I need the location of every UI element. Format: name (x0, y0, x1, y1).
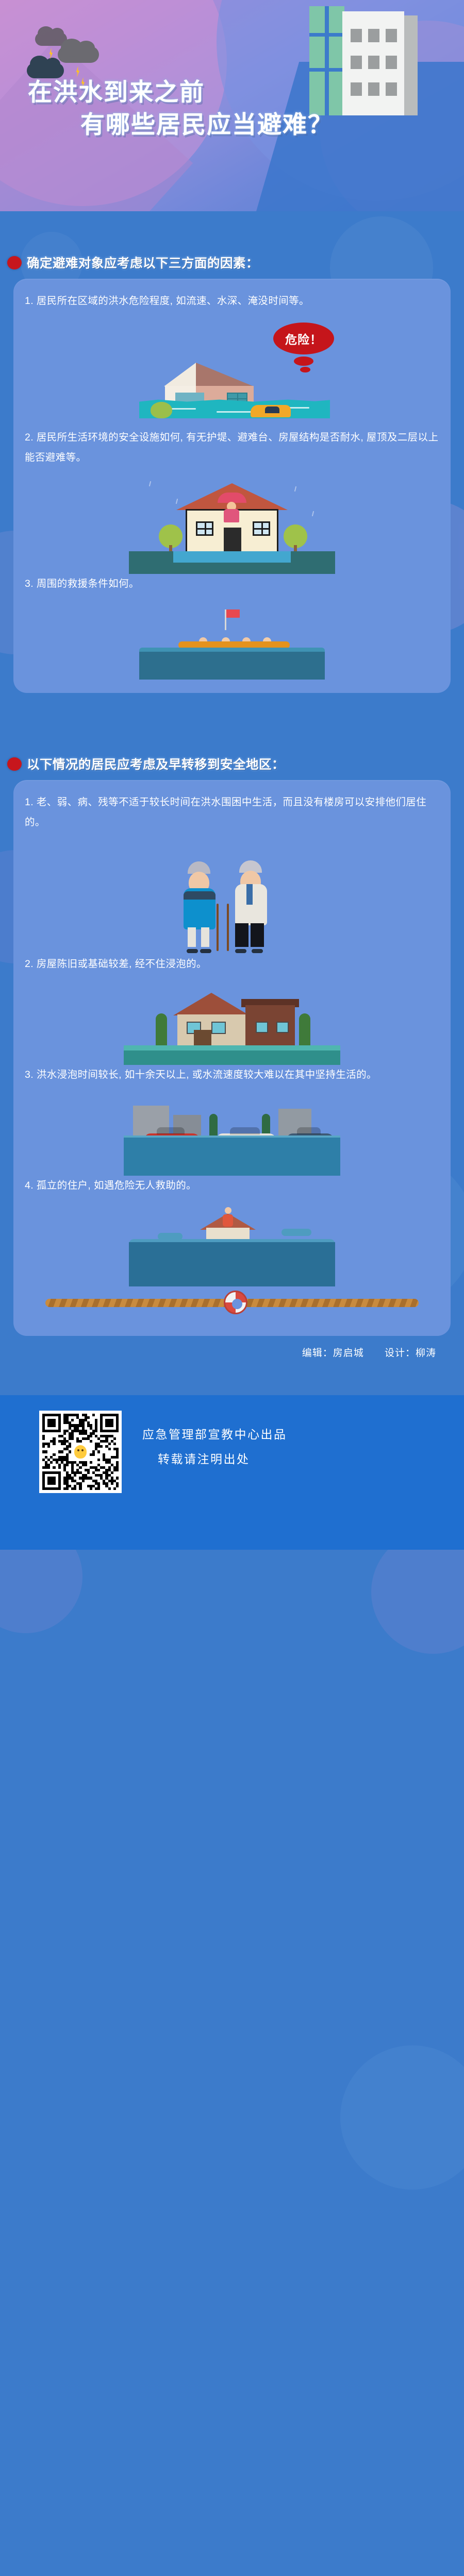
section-1-item-1-text: 1. 居民所在区域的洪水危险程度, 如流速、水深、淹没时间等。 (25, 291, 439, 311)
danger-callout-bubble: 危险！ (273, 323, 334, 354)
section-1-header: 确定避难对象应考虑以下三方面的因素： (0, 253, 464, 272)
danger-callout-text: 危险！ (285, 330, 322, 347)
section-1-title: 确定避难对象应考虑以下三方面的因素： (27, 253, 259, 272)
title-line-2: 有哪些居民应当避难？ (19, 109, 445, 141)
old-house-illustration (124, 977, 340, 1065)
credits: 编辑：房启城 设计：柳涛 (0, 1336, 464, 1359)
footer: 应急管理部宣教中心出品 转载请注明出处 (0, 1395, 464, 1550)
rescue-flag-icon (225, 609, 226, 630)
section-2: 以下情况的居民应考虑及早转移到安全地区： 1. 老、弱、病、残等不适于较长时间在… (0, 693, 464, 1359)
rope-lifebuoy-divider (25, 1286, 439, 1323)
footer-line-1: 应急管理部宣教中心出品 (142, 1422, 287, 1447)
isolated-house-illustration (129, 1199, 335, 1286)
section-1-card: 1. 居民所在区域的洪水危险程度, 如流速、水深、淹没时间等。 危险！ (13, 279, 451, 693)
section-1-item-2-text: 2. 居民所生活环境的安全设施如何, 有无护堤、避难台、房屋结构是否耐水, 屋顶… (25, 428, 439, 468)
house-in-flood-illustration: 危险！ (124, 320, 340, 418)
page-title: 在洪水到来之前 有哪些居民应当避难？ (0, 76, 464, 141)
elderly-couple-illustration (139, 836, 325, 954)
infographic-page: 在洪水到来之前 有哪些居民应当避难？ 确定避难对象应考虑以下三方面的因素： 1.… (0, 0, 464, 2576)
section-2-item-3-text: 3. 洪水浸泡时间较长, 如十余天以上, 或水流速度较大难以在其中坚持生活的。 (25, 1065, 439, 1085)
wechat-qr-code[interactable] (39, 1411, 122, 1493)
footer-line-2: 转载请注明出处 (142, 1447, 287, 1471)
life-buoy-icon (224, 1291, 247, 1314)
section-2-item-4-text: 4. 孤立的住户, 如遇危险无人救助的。 (25, 1176, 439, 1196)
footer-text-block: 应急管理部宣教中心出品 转载请注明出处 (142, 1411, 287, 1472)
credits-editor: 编辑：房启城 (302, 1348, 364, 1359)
section-2-header: 以下情况的居民应考虑及早转移到安全地区： (0, 755, 464, 773)
qr-center-logo (71, 1442, 90, 1462)
umbrella-icon (218, 493, 246, 503)
section-2-card: 1. 老、弱、病、残等不适于较长时间在洪水围困中生活，而且没有楼房可以安排他们居… (13, 780, 451, 1336)
mascot-chick-icon (74, 1445, 87, 1459)
credits-designer: 设计：柳涛 (385, 1348, 436, 1359)
rescue-boat-illustration (139, 597, 325, 680)
red-bullet-icon (7, 757, 22, 771)
house-with-balcony-illustration (129, 471, 335, 574)
storm-cloud-icon (58, 46, 99, 63)
title-line-1: 在洪水到来之前 (19, 76, 445, 109)
section-1: 确定避难对象应考虑以下三方面的因素： 1. 居民所在区域的洪水危险程度, 如流速… (0, 222, 464, 693)
section-1-item-3-text: 3. 周围的救援条件如何。 (25, 574, 439, 594)
red-bullet-icon (7, 256, 22, 269)
section-2-item-1-text: 1. 老、弱、病、残等不适于较长时间在洪水围困中生活，而且没有楼房可以安排他们居… (25, 792, 439, 833)
section-2-title: 以下情况的居民应考虑及早转移到安全地区： (27, 755, 285, 773)
section-2-item-2-text: 2. 房屋陈旧或基础较差, 经不住浸泡的。 (25, 954, 439, 974)
hero-header: 在洪水到来之前 有哪些居民应当避难？ (0, 0, 464, 222)
flooded-street-illustration (124, 1088, 340, 1176)
